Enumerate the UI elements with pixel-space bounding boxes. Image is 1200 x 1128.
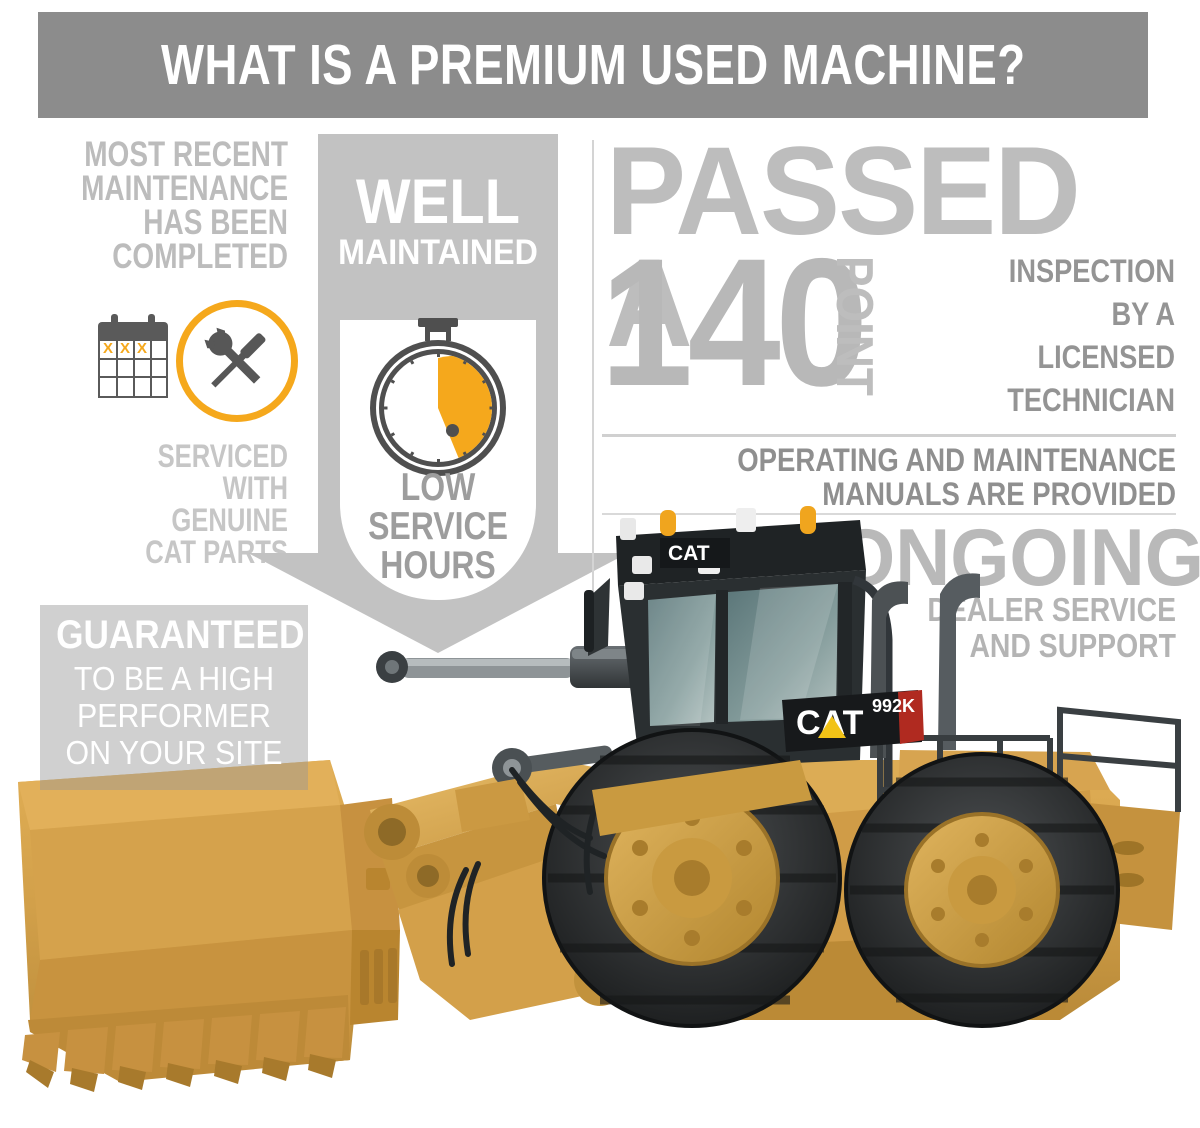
point-word-vertical: POINT	[828, 256, 880, 415]
cab-cat-logo: CAT	[668, 542, 710, 565]
guaranteed-line-1: TO BE A HIGH	[51, 660, 298, 697]
arrow-subtitle: MAINTAINED	[318, 236, 558, 270]
arrow-title: WELL	[318, 172, 558, 232]
inspection-line-1: INSPECTION	[975, 250, 1175, 293]
infographic-canvas: WHAT IS A PREMIUM USED MACHINE? MOST REC…	[0, 0, 1200, 1128]
guaranteed-box: GUARANTEED TO BE A HIGH PERFORMER ON YOU…	[40, 605, 308, 790]
inspection-line-2: BY A	[975, 293, 1175, 336]
inspection-line-4: TECHNICIAN	[975, 379, 1175, 422]
inspection-text: INSPECTION BY A LICENSED TECHNICIAN	[940, 250, 1175, 422]
guaranteed-line-3: ON YOUR SITE	[51, 734, 298, 771]
guaranteed-subtext: TO BE A HIGH PERFORMER ON YOUR SITE	[40, 660, 308, 771]
left-headline-line-1: MOST RECENT	[58, 138, 288, 172]
stopwatch-icon	[370, 332, 506, 468]
tools-circle-icon	[176, 300, 298, 422]
calendar-icon: X X X	[98, 322, 168, 400]
guaranteed-line-2: PERFORMER	[51, 697, 298, 734]
calendar-mark-2: X	[120, 342, 130, 356]
left-icon-row: X X X	[98, 300, 298, 425]
divider-rule-top	[602, 434, 1176, 437]
loader-bucket	[18, 760, 400, 1092]
page-title: WHAT IS A PREMIUM USED MACHINE?	[161, 37, 1025, 94]
left-headline: MOST RECENT MAINTENANCE HAS BEEN COMPLET…	[0, 138, 288, 274]
cat-wheel-loader-image: CAT	[0, 460, 1200, 1128]
inspection-line-3: LICENSED	[975, 336, 1175, 379]
calendar-mark-3: X	[137, 342, 147, 356]
header-banner: WHAT IS A PREMIUM USED MACHINE?	[38, 12, 1148, 118]
cat-nameplate: CAT 992K	[782, 690, 924, 752]
calendar-mark-1: X	[103, 342, 113, 356]
left-headline-line-3: HAS BEEN	[58, 206, 288, 240]
left-headline-line-2: MAINTENANCE	[58, 172, 288, 206]
left-headline-line-4: COMPLETED	[58, 240, 288, 274]
rear-tire	[846, 754, 1118, 1026]
machine-model: 992K	[872, 696, 915, 716]
guaranteed-title: GUARANTEED	[40, 615, 308, 655]
